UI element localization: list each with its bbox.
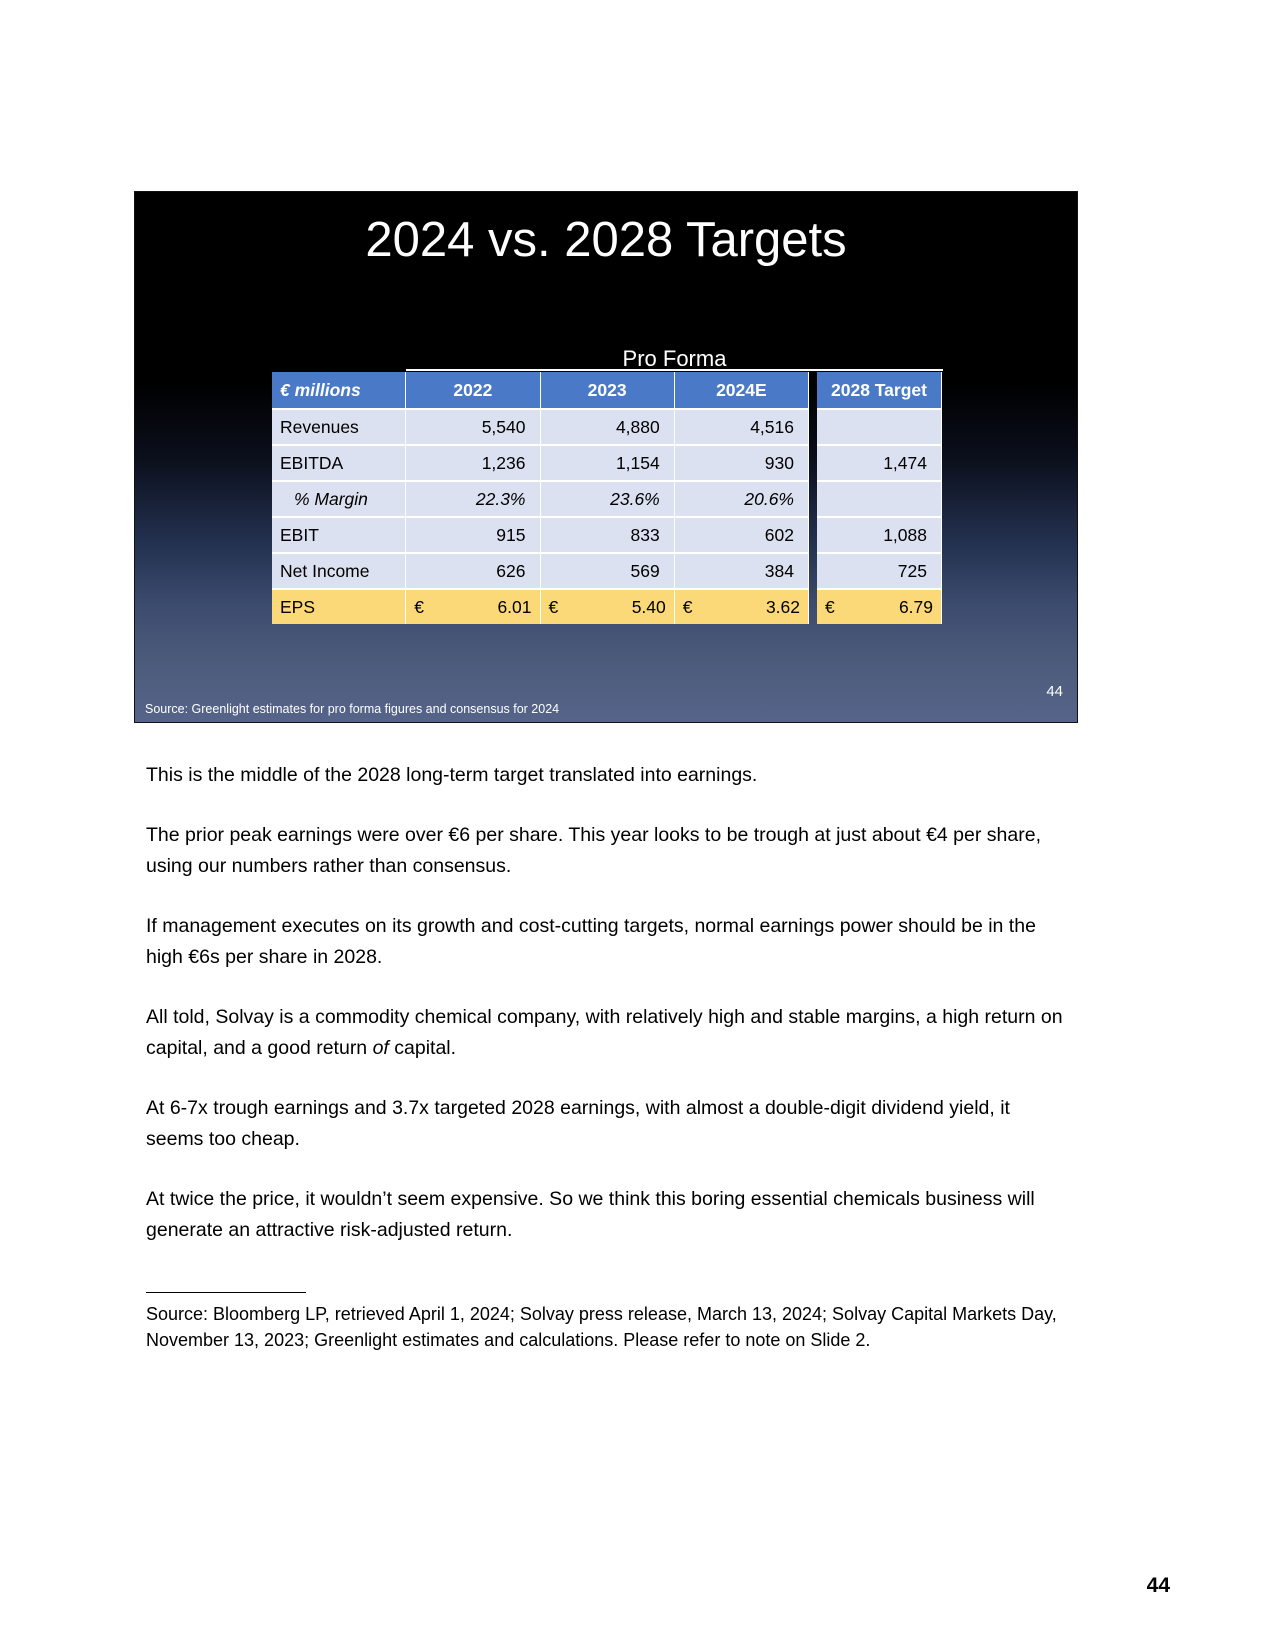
page-number: 44 bbox=[1147, 1574, 1170, 1598]
currency-symbol: € bbox=[549, 597, 559, 618]
paragraph-4-emphasis: of bbox=[373, 1037, 389, 1059]
cell-eps-2023: € 5.40 bbox=[541, 590, 675, 624]
column-header-2022: 2022 bbox=[406, 372, 540, 410]
cell-revenues-2022: 5,540 bbox=[406, 410, 540, 446]
column-header-2028-target: 2028 Target bbox=[817, 372, 942, 410]
paragraph-2: The prior peak earnings were over €6 per… bbox=[146, 820, 1071, 882]
eps-value-2024e: 3.62 bbox=[766, 597, 800, 618]
table-header-row: € millions 2022 2023 2024E bbox=[272, 372, 809, 410]
row-label-margin: % Margin bbox=[272, 482, 406, 518]
row-label-revenues: Revenues bbox=[272, 410, 406, 446]
column-header-2024e: 2024E bbox=[675, 372, 809, 410]
table-row bbox=[817, 410, 942, 446]
table-row: EBIT 915 833 602 bbox=[272, 518, 809, 554]
cell-net-income-2022: 626 bbox=[406, 554, 540, 590]
eps-value-2023: 5.40 bbox=[632, 597, 666, 618]
cell-margin-2028 bbox=[817, 482, 942, 518]
cell-net-income-2024e: 384 bbox=[675, 554, 809, 590]
cell-ebit-2022: 915 bbox=[406, 518, 540, 554]
table-row: 725 bbox=[817, 554, 942, 590]
cell-net-income-2023: 569 bbox=[541, 554, 675, 590]
cell-eps-2022: € 6.01 bbox=[406, 590, 540, 624]
cell-net-income-2028: 725 bbox=[817, 554, 942, 590]
cell-eps-2028: € 6.79 bbox=[817, 590, 942, 624]
cell-ebitda-2028: 1,474 bbox=[817, 446, 942, 482]
table-header-row-target: 2028 Target bbox=[817, 372, 942, 410]
cell-ebitda-2023: 1,154 bbox=[541, 446, 675, 482]
cell-revenues-2024e: 4,516 bbox=[675, 410, 809, 446]
cell-ebit-2023: 833 bbox=[541, 518, 675, 554]
eps-value-2022: 6.01 bbox=[497, 597, 531, 618]
paragraph-4-post: capital. bbox=[389, 1037, 456, 1059]
row-label-ebit: EBIT bbox=[272, 518, 406, 554]
table-row: 1,474 bbox=[817, 446, 942, 482]
paragraph-4: All told, Solvay is a commodity chemical… bbox=[146, 1002, 1071, 1064]
slide-title: 2024 vs. 2028 Targets bbox=[135, 212, 1077, 268]
row-label-net-income: Net Income bbox=[272, 554, 406, 590]
eps-value-2028: 6.79 bbox=[899, 597, 933, 618]
footnote-divider bbox=[146, 1292, 306, 1293]
financials-table-main: € millions 2022 2023 2024E Revenues 5,54… bbox=[272, 372, 809, 624]
table-row bbox=[817, 482, 942, 518]
row-label-eps: EPS bbox=[272, 590, 406, 624]
financials-table-wrapper: € millions 2022 2023 2024E Revenues 5,54… bbox=[272, 372, 942, 624]
table-row: Net Income 626 569 384 bbox=[272, 554, 809, 590]
table-row: EBITDA 1,236 1,154 930 bbox=[272, 446, 809, 482]
cell-margin-2023: 23.6% bbox=[541, 482, 675, 518]
slide-source-note: Source: Greenlight estimates for pro for… bbox=[145, 702, 559, 716]
table-row-eps: € 6.79 bbox=[817, 590, 942, 624]
transcript-body: This is the middle of the 2028 long-term… bbox=[146, 760, 1071, 1246]
presentation-slide: 2024 vs. 2028 Targets Pro Forma € millio… bbox=[134, 191, 1078, 723]
paragraph-6: At twice the price, it wouldn’t seem exp… bbox=[146, 1184, 1071, 1246]
slide-page-number: 44 bbox=[1046, 683, 1063, 700]
cell-ebitda-2024e: 930 bbox=[675, 446, 809, 482]
cell-ebit-2024e: 602 bbox=[675, 518, 809, 554]
cell-margin-2022: 22.3% bbox=[406, 482, 540, 518]
currency-symbol: € bbox=[683, 597, 693, 618]
column-header-2023: 2023 bbox=[541, 372, 675, 410]
paragraph-5: At 6-7x trough earnings and 3.7x targete… bbox=[146, 1093, 1071, 1155]
paragraph-4-pre: All told, Solvay is a commodity chemical… bbox=[146, 1006, 1063, 1059]
pro-forma-underline bbox=[406, 369, 943, 371]
cell-eps-2024e: € 3.62 bbox=[675, 590, 809, 624]
currency-symbol: € bbox=[825, 597, 835, 618]
column-header-units: € millions bbox=[272, 372, 406, 410]
cell-revenues-2028 bbox=[817, 410, 942, 446]
cell-ebitda-2022: 1,236 bbox=[406, 446, 540, 482]
cell-margin-2024e: 20.6% bbox=[675, 482, 809, 518]
currency-symbol: € bbox=[414, 597, 424, 618]
cell-ebit-2028: 1,088 bbox=[817, 518, 942, 554]
table-row: % Margin 22.3% 23.6% 20.6% bbox=[272, 482, 809, 518]
paragraph-1: This is the middle of the 2028 long-term… bbox=[146, 760, 1071, 791]
row-label-ebitda: EBITDA bbox=[272, 446, 406, 482]
cell-revenues-2023: 4,880 bbox=[541, 410, 675, 446]
table-row-eps: EPS € 6.01 € 5.40 bbox=[272, 590, 809, 624]
financials-table-target: 2028 Target 1,474 1,088 725 bbox=[817, 372, 942, 624]
paragraph-3: If management executes on its growth and… bbox=[146, 911, 1071, 973]
footnote-source: Source: Bloomberg LP, retrieved April 1,… bbox=[146, 1301, 1066, 1353]
table-row: 1,088 bbox=[817, 518, 942, 554]
table-row: Revenues 5,540 4,880 4,516 bbox=[272, 410, 809, 446]
